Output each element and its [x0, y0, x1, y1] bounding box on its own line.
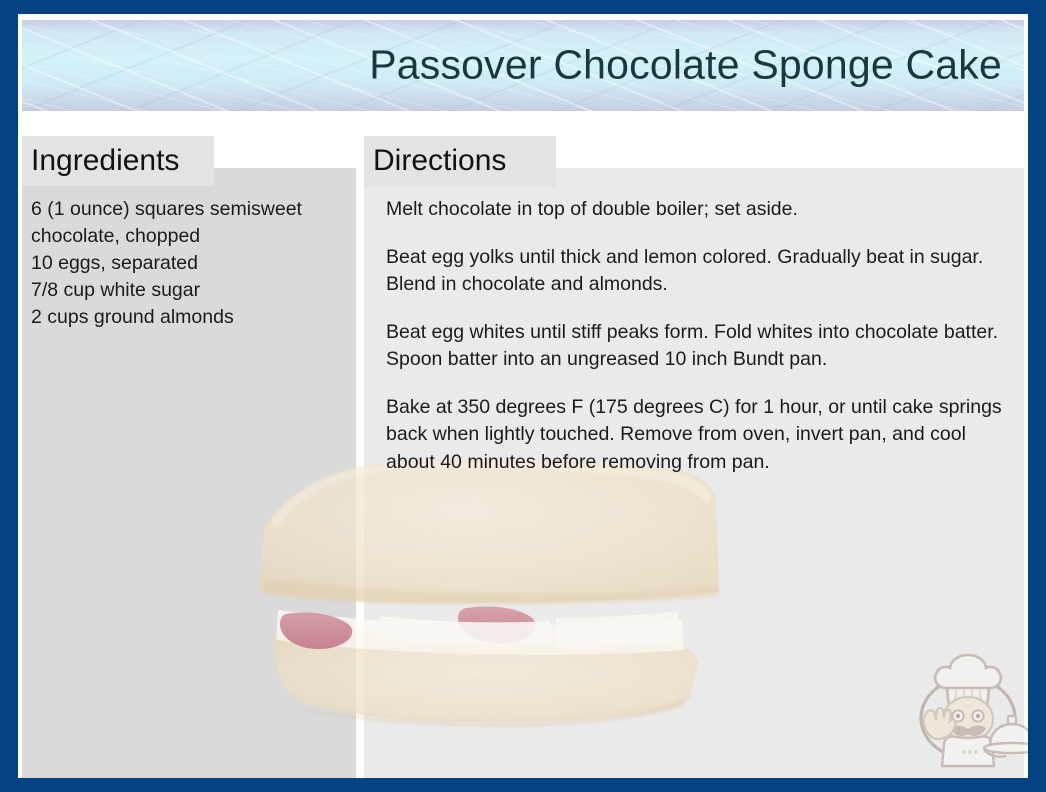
direction-step: Beat egg yolks until thick and lemon col…	[386, 244, 1004, 299]
ingredients-heading: Ingredients	[22, 146, 179, 176]
list-item: 2 cups ground almonds	[31, 304, 342, 331]
list-item: 7/8 cup white sugar	[31, 277, 342, 304]
chef-ok-hand-icon	[924, 708, 955, 739]
list-item: 10 eggs, separated	[31, 250, 342, 277]
direction-step: Bake at 350 degrees F (175 degrees C) fo…	[386, 394, 1004, 477]
title-banner: Passover Chocolate Sponge Cake	[22, 20, 1024, 111]
direction-step: Melt chocolate in top of double boiler; …	[386, 196, 1004, 224]
ingredients-list: 6 (1 ounce) squares semisweet chocolate,…	[22, 196, 342, 331]
page-title: Passover Chocolate Sponge Cake	[369, 41, 1002, 88]
directions-heading: Directions	[364, 146, 506, 176]
recipe-card-page: Passover Chocolate Sponge Cake Ingredien…	[18, 14, 1028, 778]
directions-heading-box: Directions	[364, 136, 556, 186]
list-item: chocolate, chopped	[31, 223, 342, 250]
direction-step: Beat egg whites until stiff peaks form. …	[386, 319, 1004, 374]
ingredients-heading-box: Ingredients	[22, 136, 214, 186]
directions-list: Melt chocolate in top of double boiler; …	[364, 196, 1014, 476]
list-item: 6 (1 ounce) squares semisweet	[31, 196, 342, 223]
chef-with-serving-dome-logo	[906, 646, 1028, 768]
